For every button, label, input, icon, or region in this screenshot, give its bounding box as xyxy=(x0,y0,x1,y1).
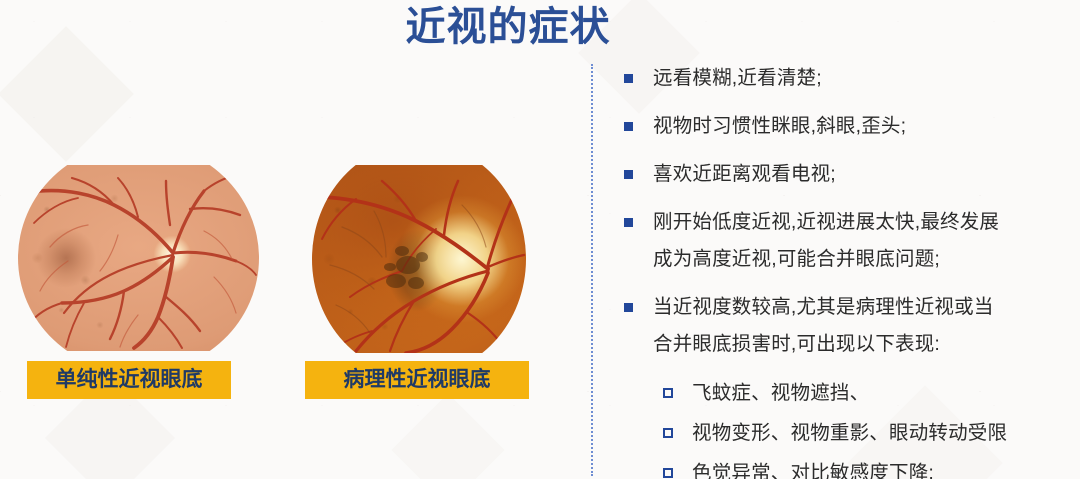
simple-myopia-fundus-photo xyxy=(18,165,259,351)
figure-pathological-myopia xyxy=(312,165,526,353)
list-item-text: 刚开始低度近视,近视进展太快,最终发展 xyxy=(653,204,1072,241)
list-item-text: 远看模糊,近看清楚; xyxy=(653,60,1072,97)
bullet-square-icon xyxy=(624,170,633,179)
sub-list-item: 色觉异常、对比敏感度下降; xyxy=(620,454,1072,479)
list-item-text: 视物时习惯性眯眼,斜眼,歪头; xyxy=(653,108,1072,145)
sub-list-item: 飞蚊症、视物遮挡、 xyxy=(620,374,1072,412)
background-diamond-decoration xyxy=(391,393,504,479)
bullet-hollow-square-icon xyxy=(663,468,673,478)
pigment-clumps xyxy=(384,246,428,289)
list-item: 刚开始低度近视,近视进展太快,最终发展 成为高度近视,可能合并眼底问题; xyxy=(620,204,1072,278)
list-item: 当近视度数较高,尤其是病理性近视或当 合并眼底损害时,可出现以下表现: xyxy=(620,289,1072,363)
list-item: 视物时习惯性眯眼,斜眼,歪头; xyxy=(620,108,1072,145)
retinal-vessel-tree xyxy=(312,165,526,353)
bullet-square-icon xyxy=(624,122,633,131)
list-item: 远看模糊,近看清楚; xyxy=(620,60,1072,97)
bullet-hollow-square-icon xyxy=(663,388,673,398)
slide-title: 近视的症状 xyxy=(0,2,1016,52)
sub-list-item-text: 色觉异常、对比敏感度下降; xyxy=(692,462,934,479)
list-item-text-line2: 合并眼底损害时,可出现以下表现: xyxy=(653,326,1072,363)
symptom-list: 远看模糊,近看清楚; 视物时习惯性眯眼,斜眼,歪头; 喜欢近距离观看电视; 刚开… xyxy=(620,60,1072,479)
sub-list-item: 视物变形、视物重影、眼动转动受限 xyxy=(620,414,1072,452)
list-item: 喜欢近距离观看电视; xyxy=(620,156,1072,193)
list-item-text: 喜欢近距离观看电视; xyxy=(653,156,1072,193)
list-item-text: 当近视度数较高,尤其是病理性近视或当 xyxy=(653,289,1072,326)
sub-list-item-text: 视物变形、视物重影、眼动转动受限 xyxy=(692,422,1007,444)
caption-pathological-myopia: 病理性近视眼底 xyxy=(305,361,529,399)
bullet-square-icon xyxy=(624,74,633,83)
list-item-text-line2: 成为高度近视,可能合并眼底问题; xyxy=(653,241,1072,278)
bullet-square-icon xyxy=(624,218,633,227)
slide-root: 近视的症状 xyxy=(0,0,1080,479)
retinal-vessel-tree xyxy=(18,165,259,351)
bullet-hollow-square-icon xyxy=(663,428,673,438)
sub-list-item-text: 飞蚊症、视物遮挡、 xyxy=(692,382,869,404)
symptom-sub-list: 飞蚊症、视物遮挡、 视物变形、视物重影、眼动转动受限 色觉异常、对比敏感度下降; xyxy=(620,374,1072,479)
caption-simple-myopia: 单纯性近视眼底 xyxy=(27,361,231,399)
bullet-square-icon xyxy=(624,303,633,312)
figure-simple-myopia xyxy=(18,165,259,351)
pathological-myopia-fundus-photo xyxy=(312,165,526,353)
vertical-divider xyxy=(591,64,593,476)
